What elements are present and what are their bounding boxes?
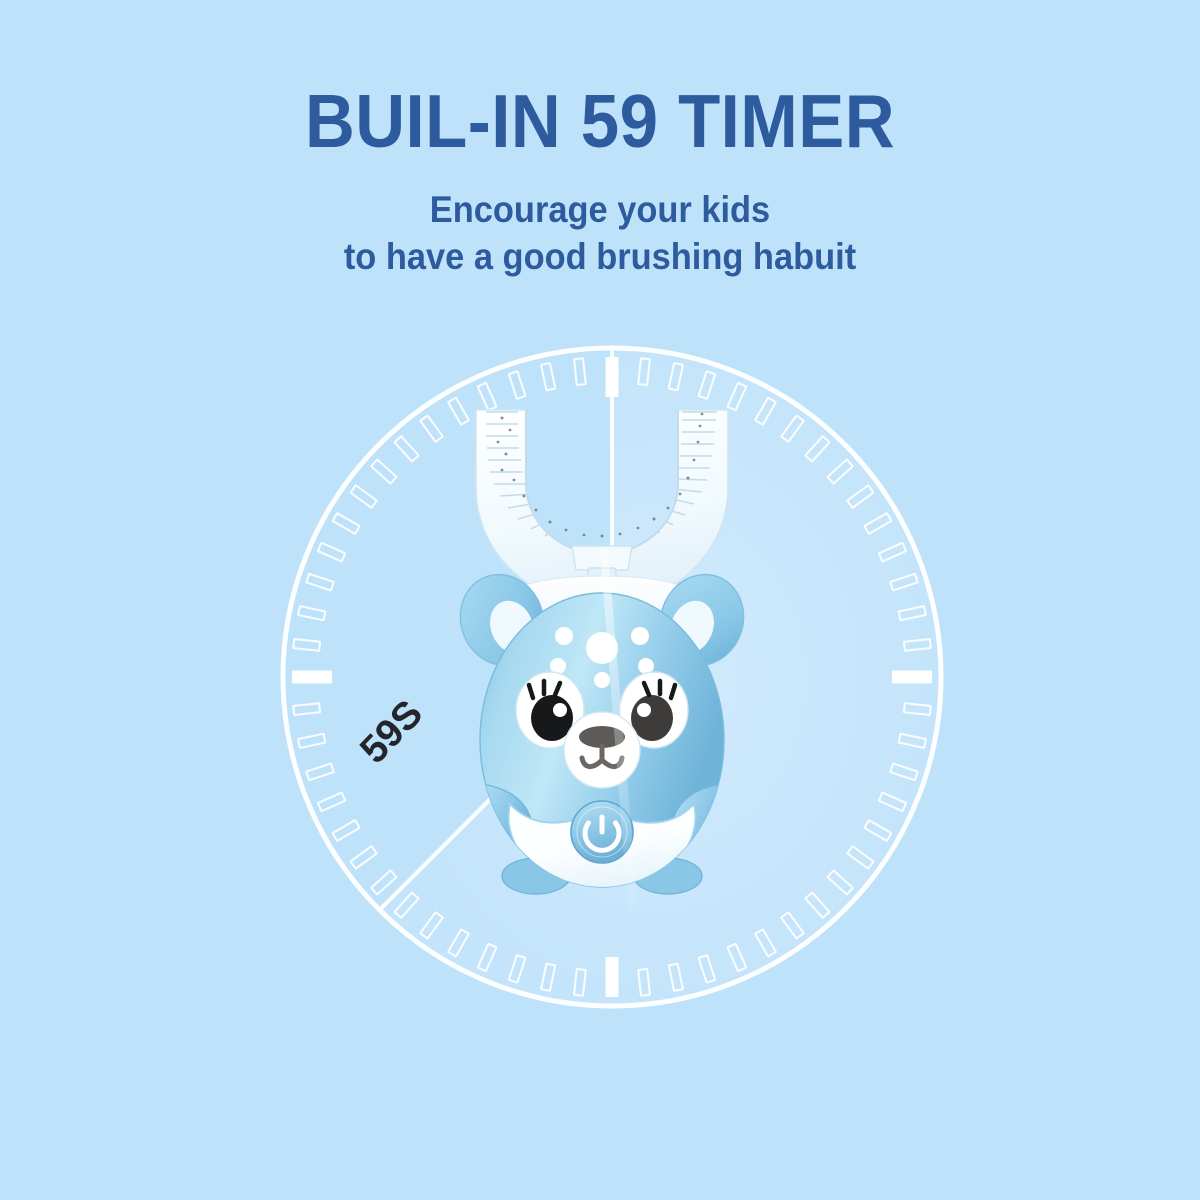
product-feature-slide: BUIL-IN 59 TIMER Encourage your kids to … xyxy=(0,0,1200,1200)
timer-tick-minor xyxy=(371,460,396,484)
timer-tick-minor xyxy=(306,574,334,591)
subtitle-line-1: Encourage your kids xyxy=(42,187,1158,234)
timer-tick-minor xyxy=(350,846,376,869)
timer-tick-minor xyxy=(306,764,334,781)
headline-block: BUIL-IN 59 TIMER Encourage your kids to … xyxy=(0,84,1200,281)
page-title: BUIL-IN 59 TIMER xyxy=(48,84,1152,159)
timer-tick-major xyxy=(606,957,619,997)
brush-head-inner-contour xyxy=(526,410,678,554)
timer-tick-minor xyxy=(298,606,325,620)
timer-tick-minor xyxy=(333,513,360,534)
bear-muzzle xyxy=(564,712,640,788)
timer-tick-minor xyxy=(318,792,345,811)
timer-tick-minor xyxy=(333,820,360,841)
timer-tick-minor xyxy=(293,639,320,651)
timer-tick-minor xyxy=(318,543,345,562)
subtitle-line-2: to have a good brushing habuit xyxy=(42,234,1158,281)
timer-tick-major xyxy=(292,671,332,684)
bear-toothbrush-graphic xyxy=(432,380,772,940)
timer-tick-major xyxy=(892,671,932,684)
subtitle-block: Encourage your kids to have a good brush… xyxy=(0,187,1200,281)
product-image xyxy=(432,380,772,940)
timer-tick-minor xyxy=(298,734,325,748)
timer-tick-minor xyxy=(293,703,320,715)
timer-tick-minor xyxy=(350,485,376,508)
timer-tick-minor xyxy=(395,436,419,461)
timer-tick-minor xyxy=(371,870,396,894)
